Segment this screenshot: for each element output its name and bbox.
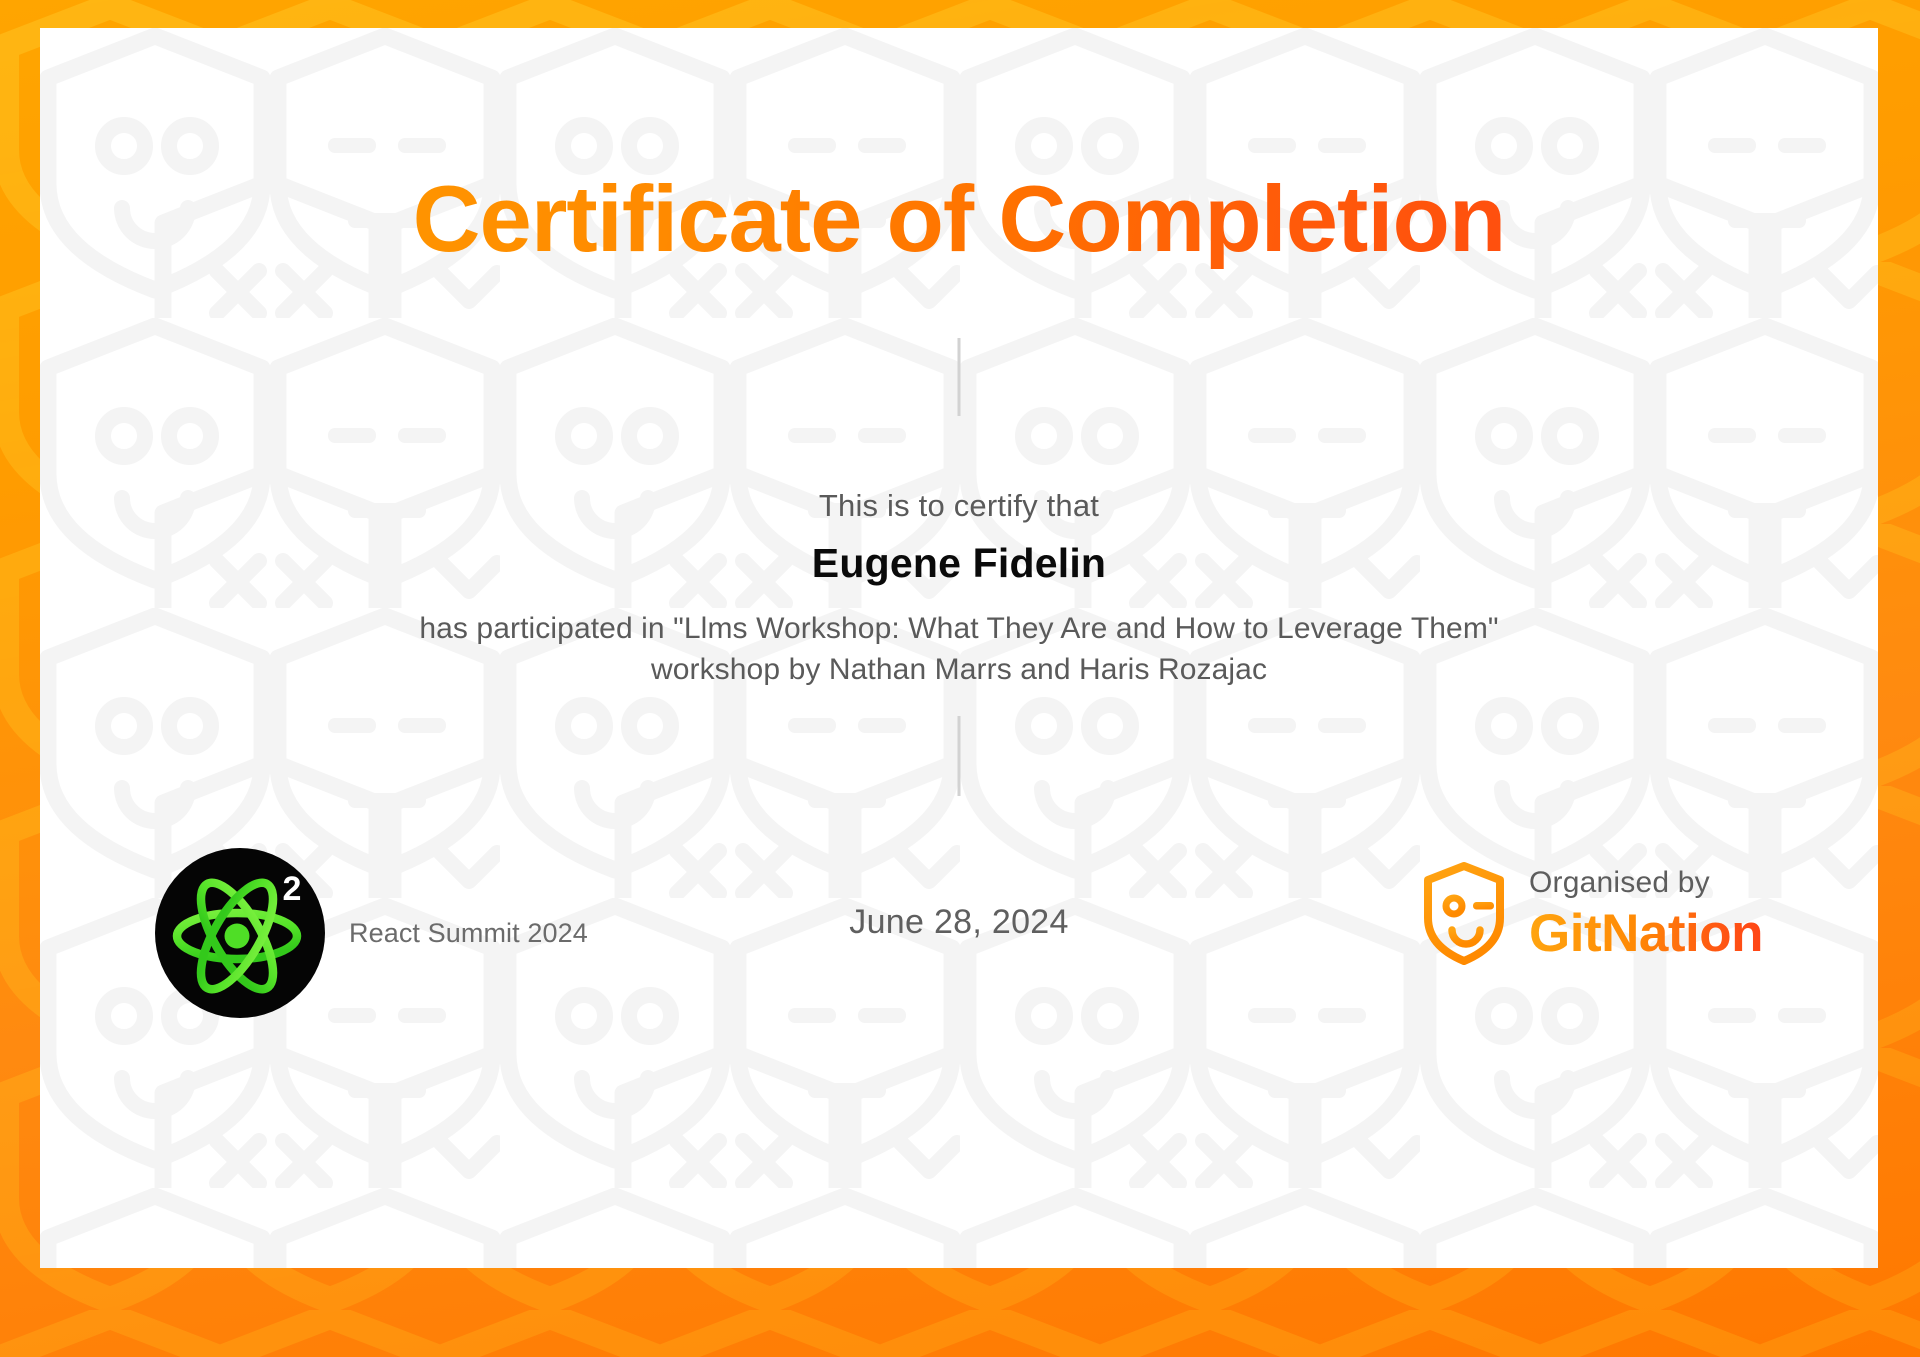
- gitnation-wordmark: GitNation: [1529, 907, 1763, 960]
- participation-text: has participated in "Llms Workshop: What…: [210, 608, 1708, 691]
- event-name: React Summit 2024: [349, 918, 588, 949]
- page-title: Certificate of Completion: [40, 170, 1878, 269]
- svg-text:2: 2: [283, 870, 302, 908]
- organiser-text: Organised by GitNation: [1529, 868, 1763, 960]
- divider-top: [958, 338, 961, 416]
- certify-line: This is to certify that: [40, 488, 1878, 524]
- divider-bottom: [958, 716, 961, 796]
- react-atom-icon: 2: [155, 848, 325, 1018]
- participation-line-1: has participated in "Llms Workshop: What…: [210, 608, 1708, 649]
- event-block: 2 React Summit 2024: [155, 848, 588, 1018]
- gitnation-shield-face-icon: [1421, 862, 1507, 966]
- certificate-root: Certificate of Completion This is to cer…: [0, 0, 1920, 1357]
- organised-by-label: Organised by: [1529, 868, 1763, 898]
- certificate-footer: 2 React Summit 2024 June 28, 2024: [40, 848, 1878, 1008]
- certificate-card: Certificate of Completion This is to cer…: [40, 28, 1878, 1268]
- recipient-name: Eugene Fidelin: [40, 540, 1878, 587]
- issue-date: June 28, 2024: [849, 903, 1068, 942]
- participation-line-2: workshop by Nathan Marrs and Haris Rozaj…: [210, 649, 1708, 690]
- organiser-block: Organised by GitNation: [1421, 862, 1763, 966]
